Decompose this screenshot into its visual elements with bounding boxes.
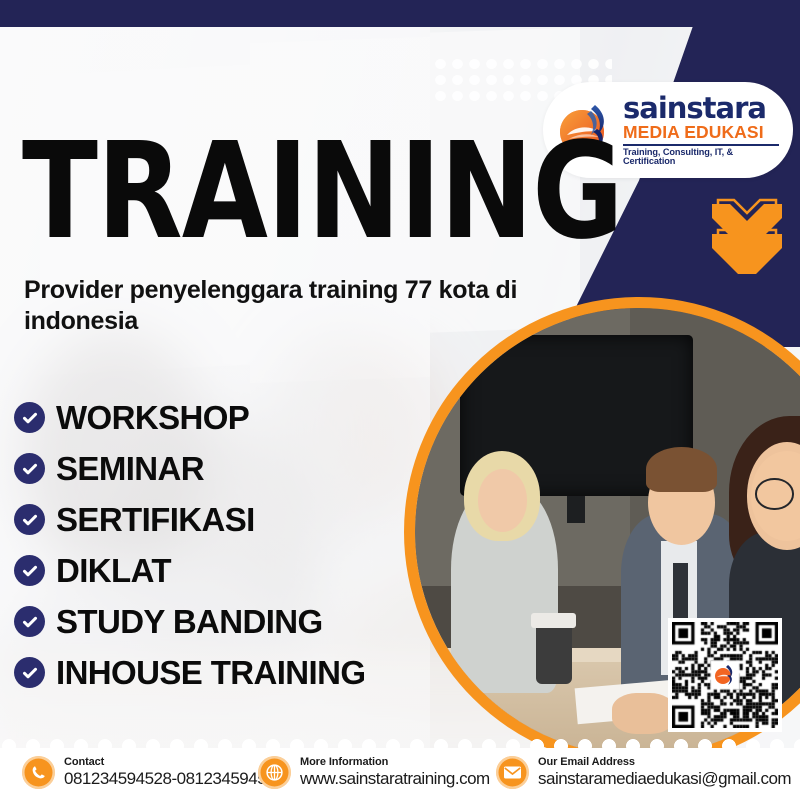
logo-name: sainstara xyxy=(623,94,779,123)
list-item: SERTIFIKASI xyxy=(14,494,444,545)
double-chevron-down-icon xyxy=(704,196,790,274)
footer-contact-value: 081234594528-081234594527 xyxy=(64,770,284,788)
check-circle-icon xyxy=(14,504,45,535)
qr-center-logo-icon xyxy=(713,663,737,687)
service-label: SEMINAR xyxy=(56,450,204,488)
check-circle-icon xyxy=(14,657,45,688)
service-label: SERTIFIKASI xyxy=(56,501,255,539)
training-promo-poster: sainstara MEDIA EDUKASI Training, Consul… xyxy=(0,0,800,800)
service-label: STUDY BANDING xyxy=(56,603,323,641)
check-circle-icon xyxy=(14,606,45,637)
list-item: WORKSHOP xyxy=(14,392,444,443)
envelope-icon xyxy=(496,756,529,789)
list-item: SEMINAR xyxy=(14,443,444,494)
footer-website-value: www.sainstaratraining.com xyxy=(300,770,490,788)
check-circle-icon xyxy=(14,402,45,433)
footer-contact-title: Contact xyxy=(64,757,284,769)
logo-divider xyxy=(623,144,779,146)
phone-icon xyxy=(22,756,55,789)
service-label: WORKSHOP xyxy=(56,399,249,437)
list-item: INHOUSE TRAINING xyxy=(14,647,444,698)
list-item: STUDY BANDING xyxy=(14,596,444,647)
logo-tagline: Training, Consulting, IT, & Certificatio… xyxy=(623,148,779,166)
footer-bar: Contact 081234594528-081234594527 More I… xyxy=(0,748,800,800)
page-title: TRAINING xyxy=(22,131,623,253)
services-list: WORKSHOP SEMINAR SERTIFIKASI DIKLAT STUD… xyxy=(14,392,444,698)
footer-contact[interactable]: Contact 081234594528-081234594527 xyxy=(22,756,284,789)
top-navy-bar xyxy=(0,0,800,27)
service-label: DIKLAT xyxy=(56,552,171,590)
footer-website[interactable]: More Information www.sainstaratraining.c… xyxy=(258,756,490,789)
footer-email[interactable]: Our Email Address sainstaramediaedukasi@… xyxy=(496,756,791,789)
qr-code-icon[interactable] xyxy=(668,618,782,732)
footer-email-value: sainstaramediaedukasi@gmail.com xyxy=(538,770,791,788)
check-circle-icon xyxy=(14,453,45,484)
logo-subtitle: MEDIA EDUKASI xyxy=(623,124,779,142)
footer-website-title: More Information xyxy=(300,757,490,769)
footer-email-title: Our Email Address xyxy=(538,757,791,769)
globe-icon xyxy=(258,756,291,789)
list-item: DIKLAT xyxy=(14,545,444,596)
service-label: INHOUSE TRAINING xyxy=(56,654,365,692)
check-circle-icon xyxy=(14,555,45,586)
page-subtitle: Provider penyelenggara training 77 kota … xyxy=(24,275,544,336)
